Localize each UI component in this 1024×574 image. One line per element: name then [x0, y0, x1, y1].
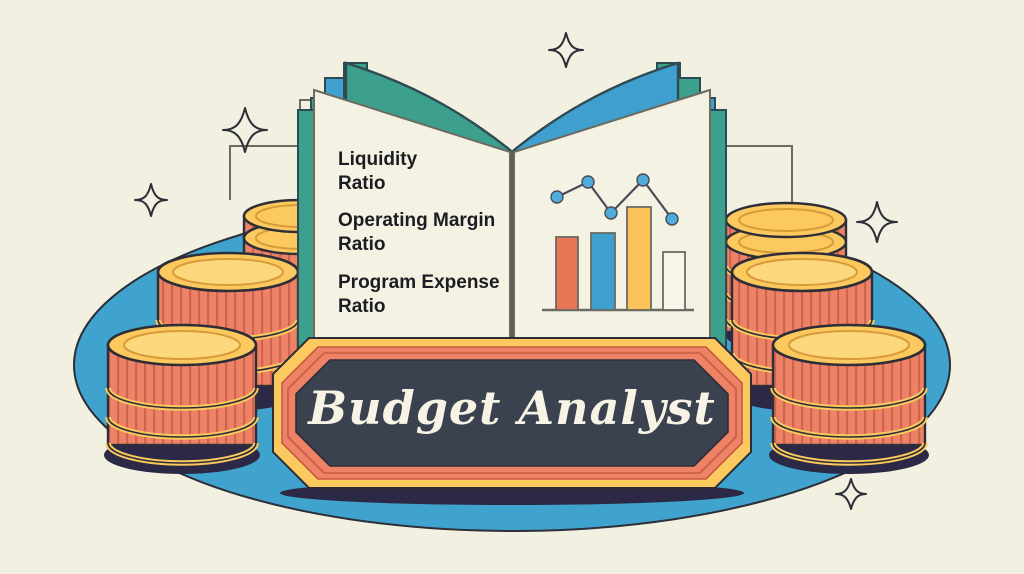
chart-point-5 — [666, 213, 678, 225]
ratio-3-line2: Ratio — [338, 296, 386, 317]
chart-point-2 — [582, 176, 594, 188]
chart-bar-3 — [627, 207, 651, 310]
chart-point-4 — [637, 174, 649, 186]
ratio-3-line1: Program Expense — [338, 272, 500, 293]
coin-stack-far-left — [104, 325, 260, 474]
title-plaque: Budget Analyst — [273, 338, 751, 505]
ratio-1-line2: Ratio — [338, 173, 386, 194]
ratio-1-line1: Liquidity — [338, 149, 418, 170]
chart-point-1 — [551, 191, 563, 203]
chart-point-3 — [605, 207, 617, 219]
chart-bar-4 — [663, 252, 685, 310]
chart-bar-1 — [556, 237, 578, 310]
ratio-2-line2: Ratio — [338, 234, 386, 255]
illustration-canvas: Liquidity Ratio Operating Margin Ratio P… — [0, 0, 1024, 574]
ratio-2-line1: Operating Margin — [338, 210, 495, 231]
coin-stack-far-right — [769, 325, 929, 474]
chart-bar-2 — [591, 233, 615, 310]
plaque-title: Budget Analyst — [306, 381, 715, 435]
